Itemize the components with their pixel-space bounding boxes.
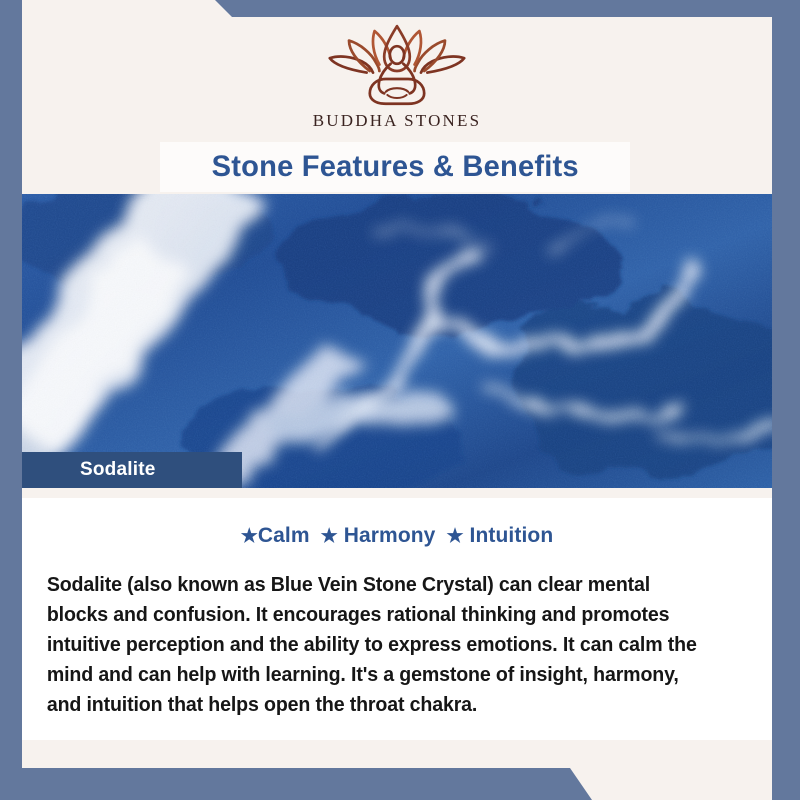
- frame-band-right: [772, 0, 800, 800]
- star-icon: ★: [241, 526, 258, 547]
- page-title: Stone Features & Benefits: [211, 150, 578, 184]
- brand-header: BUDDHA STONES: [22, 17, 772, 142]
- star-icon: ★: [321, 526, 338, 547]
- title-banner: Stone Features & Benefits: [160, 142, 630, 192]
- stone-benefits-poster: BUDDHA STONES Stone Features & Benefits: [0, 0, 800, 800]
- stone-description: Sodalite (also known as Blue Vein Stone …: [22, 548, 738, 720]
- stone-photo: [22, 194, 772, 488]
- frame-band-top: [0, 0, 800, 17]
- benefit-keyword-calm: Calm: [258, 524, 310, 547]
- stone-name-tag: Sodalite: [22, 452, 242, 488]
- benefit-keyword-harmony: Harmony: [344, 524, 436, 547]
- lotus-meditation-figure-icon: [317, 23, 477, 109]
- frame-band-left: [0, 0, 22, 770]
- star-icon: ★: [446, 526, 463, 547]
- stone-name-label: Sodalite: [80, 459, 156, 481]
- benefit-keyword-intuition: Intuition: [470, 524, 554, 547]
- brand-wordmark: BUDDHA STONES: [313, 111, 482, 131]
- frame-band-bottom: [0, 768, 800, 800]
- benefit-keywords: ★Calm★ Harmony★ Intuition: [22, 498, 772, 548]
- content-card: ★Calm★ Harmony★ Intuition Sodalite (also…: [22, 498, 772, 740]
